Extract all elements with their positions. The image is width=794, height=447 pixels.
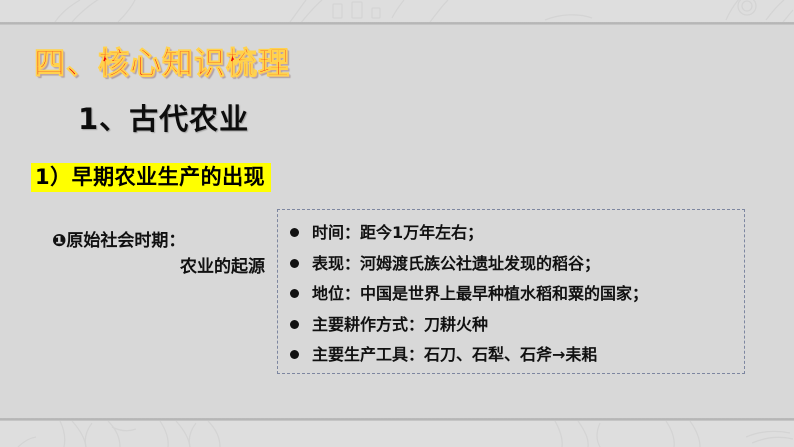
section-highlight-heading: 1）早期农业生产的出现 xyxy=(31,163,271,192)
bottom-decor-band xyxy=(0,421,794,447)
list-item: 时间：距今1万年左右； xyxy=(290,219,744,247)
key-points-list: 时间：距今1万年左右； 表现：河姆渡氏族公社遗址发现的稻谷； 地位：中国是世界上… xyxy=(278,210,744,369)
bullet-dot-icon xyxy=(290,259,299,268)
bullet-dot-icon xyxy=(290,228,299,237)
list-item: 表现：河姆渡氏族公社遗址发现的稻谷； xyxy=(290,250,744,278)
origin-label-block: ❶原始社会时期： 农业的起源 xyxy=(52,228,267,281)
origin-label-line2: 农业的起源 xyxy=(52,254,267,280)
bullet-dot-icon xyxy=(290,320,299,329)
section-subtitle: 1、古代农业 xyxy=(78,96,249,138)
list-item: 主要耕作方式：刀耕火种 xyxy=(290,311,744,339)
top-decor-band xyxy=(0,0,794,22)
list-item-text: 主要耕作方式：刀耕火种 xyxy=(312,315,488,334)
origin-label-line1: ❶原始社会时期： xyxy=(52,228,267,254)
bottom-divider xyxy=(0,418,794,421)
section-title-red: 四、核心知识梳理 xyxy=(34,38,290,83)
list-item: 地位：中国是世界上最早种植水稻和粟的国家； xyxy=(290,280,744,308)
list-item: 主要生产工具：石刀、石犁、石斧→耒耜 xyxy=(290,341,744,369)
list-item-text: 主要生产工具：石刀、石犁、石斧→耒耜 xyxy=(312,345,597,364)
bullet-dot-icon xyxy=(290,289,299,298)
list-item-text: 地位：中国是世界上最早种植水稻和粟的国家； xyxy=(312,284,648,303)
list-item-text: 表现：河姆渡氏族公社遗址发现的稻谷； xyxy=(312,254,600,273)
bullet-dot-icon xyxy=(290,350,299,359)
slide-canvas: 四、核心知识梳理 1、古代农业 1）早期农业生产的出现 ❶原始社会时期： 农业的… xyxy=(0,0,794,447)
list-item-text: 时间：距今1万年左右； xyxy=(312,223,483,242)
top-divider xyxy=(0,22,794,25)
key-points-box: 时间：距今1万年左右； 表现：河姆渡氏族公社遗址发现的稻谷； 地位：中国是世界上… xyxy=(277,209,745,374)
